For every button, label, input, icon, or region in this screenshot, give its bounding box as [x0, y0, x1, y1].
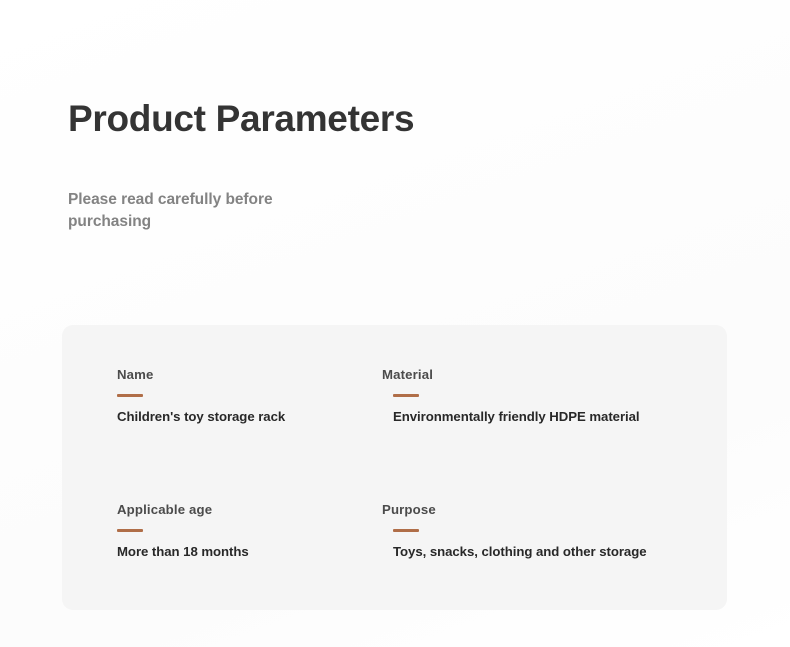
spec-item-applicable-age: Applicable age More than 18 months	[117, 503, 382, 560]
page-title: Product Parameters	[68, 100, 708, 139]
spec-item-purpose: Purpose Toys, snacks, clothing and other…	[382, 503, 697, 560]
accent-rule	[117, 394, 143, 397]
page-header: Product Parameters Please read carefully…	[68, 100, 708, 233]
accent-rule	[117, 529, 143, 532]
spec-label: Purpose	[382, 503, 697, 516]
spec-value: More than 18 months	[117, 544, 382, 561]
spec-label: Applicable age	[117, 503, 382, 516]
accent-rule	[393, 529, 419, 532]
product-parameters-page: Product Parameters Please read carefully…	[0, 0, 790, 647]
spec-value: Children's toy storage rack	[117, 409, 382, 426]
specifications-card: Name Children's toy storage rack Materia…	[62, 325, 727, 610]
page-subtitle: Please read carefully before purchasing	[68, 139, 348, 233]
specifications-grid: Name Children's toy storage rack Materia…	[117, 368, 697, 560]
accent-rule	[393, 394, 419, 397]
spec-value: Environmentally friendly HDPE material	[393, 409, 697, 426]
spec-item-name: Name Children's toy storage rack	[117, 368, 382, 503]
spec-value: Toys, snacks, clothing and other storage	[393, 544, 697, 561]
spec-label: Name	[117, 368, 382, 381]
spec-label: Material	[382, 368, 697, 381]
spec-item-material: Material Environmentally friendly HDPE m…	[382, 368, 697, 503]
